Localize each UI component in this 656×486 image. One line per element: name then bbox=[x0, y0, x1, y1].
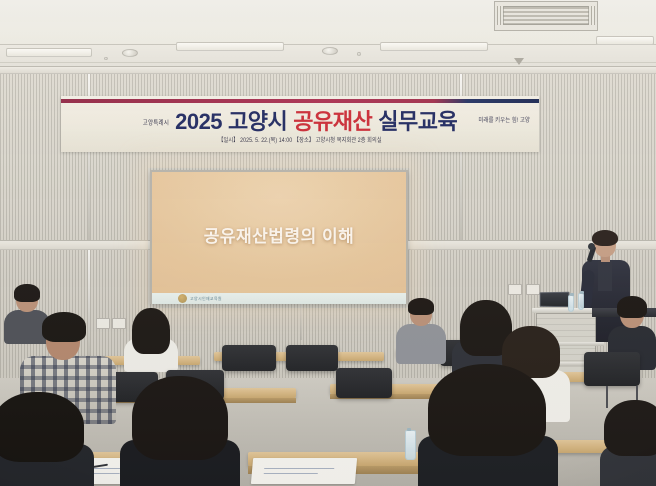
ceiling-sensor bbox=[357, 52, 361, 56]
handout-paper bbox=[251, 458, 357, 484]
banner-title-year: 2025 bbox=[175, 111, 222, 133]
ceiling-seam bbox=[0, 44, 656, 45]
person-hair bbox=[0, 392, 84, 462]
ac-vent-louver bbox=[497, 6, 501, 25]
banner-slogan: 미래를 키우는 힘! 고양 bbox=[478, 116, 530, 125]
ceiling-speaker bbox=[122, 49, 138, 57]
audience-member bbox=[418, 364, 558, 486]
chair bbox=[336, 368, 392, 398]
wall-outlet bbox=[508, 284, 522, 295]
audience-member bbox=[396, 298, 446, 362]
slide-footer-logo: 고양시인재교육원 bbox=[178, 294, 222, 303]
ac-vent-grille bbox=[503, 6, 589, 25]
recessed-light-panel bbox=[6, 48, 92, 57]
ceiling-speaker bbox=[322, 47, 338, 55]
ac-vent-louver bbox=[591, 6, 595, 25]
ceiling-sensor bbox=[104, 57, 108, 60]
banner-title-highlight: 공유재산 bbox=[293, 111, 372, 133]
projection-screen: 공유재산법령의 이해 고양시인재교육원 bbox=[150, 170, 408, 304]
photo-scene: 고양특례시 2025 고양시 공유재산 실무교육 【일시】 2025. 5. 2… bbox=[0, 0, 656, 486]
event-banner: 고양특례시 2025 고양시 공유재산 실무교육 【일시】 2025. 5. 2… bbox=[61, 96, 539, 152]
water-bottle bbox=[578, 293, 584, 310]
laptop-screen bbox=[540, 292, 570, 308]
water-bottle bbox=[405, 430, 416, 460]
person-torso bbox=[396, 324, 446, 364]
paper-line bbox=[264, 468, 334, 469]
presenter-shirt bbox=[598, 261, 612, 291]
audience-member bbox=[124, 308, 178, 370]
paper-line bbox=[264, 473, 318, 474]
recessed-light-panel bbox=[596, 36, 654, 45]
person-hair bbox=[428, 364, 546, 456]
chair bbox=[222, 345, 276, 371]
banner-stripe bbox=[61, 99, 539, 103]
recessed-light-panel bbox=[380, 42, 488, 51]
audience-member bbox=[120, 376, 240, 486]
chair bbox=[286, 345, 338, 371]
person-hair bbox=[14, 284, 40, 302]
banner-title-part2: 실무교육 bbox=[378, 111, 457, 133]
institute-logo-icon bbox=[178, 294, 187, 303]
person-hair bbox=[132, 376, 228, 460]
banner-title-part1: 고양시 bbox=[228, 111, 287, 133]
banner-org-label: 고양특례시 bbox=[143, 117, 169, 126]
water-bottle bbox=[568, 295, 574, 312]
presenter-hair bbox=[592, 230, 618, 246]
ceiling-seam bbox=[0, 62, 656, 63]
wall-trim-band bbox=[0, 66, 656, 74]
slide-footer: 고양시인재교육원 bbox=[152, 293, 406, 304]
recessed-light-panel bbox=[176, 42, 284, 51]
microphone-head-icon bbox=[588, 243, 595, 250]
sprinkler-head bbox=[514, 58, 524, 65]
slide-title: 공유재산법령의 이해 bbox=[152, 222, 406, 247]
slide-footer-logo-text: 고양시인재교육원 bbox=[190, 296, 222, 302]
banner-title-row: 고양특례시 2025 고양시 공유재산 실무교육 bbox=[61, 107, 539, 137]
banner-subtitle: 【일시】 2025. 5. 22.(목) 14:00 【장소】 고양시청 복지회… bbox=[61, 136, 539, 144]
chair bbox=[584, 352, 640, 386]
ceiling-ac-vent bbox=[494, 1, 598, 31]
audience-member bbox=[600, 400, 656, 486]
person-hair bbox=[132, 308, 170, 354]
person-hair bbox=[604, 400, 656, 456]
person-hair bbox=[408, 298, 434, 315]
audience-member bbox=[0, 392, 94, 486]
slide-surface: 공유재산법령의 이해 bbox=[152, 172, 406, 294]
person-hair bbox=[42, 312, 86, 342]
person-hair bbox=[617, 296, 647, 318]
